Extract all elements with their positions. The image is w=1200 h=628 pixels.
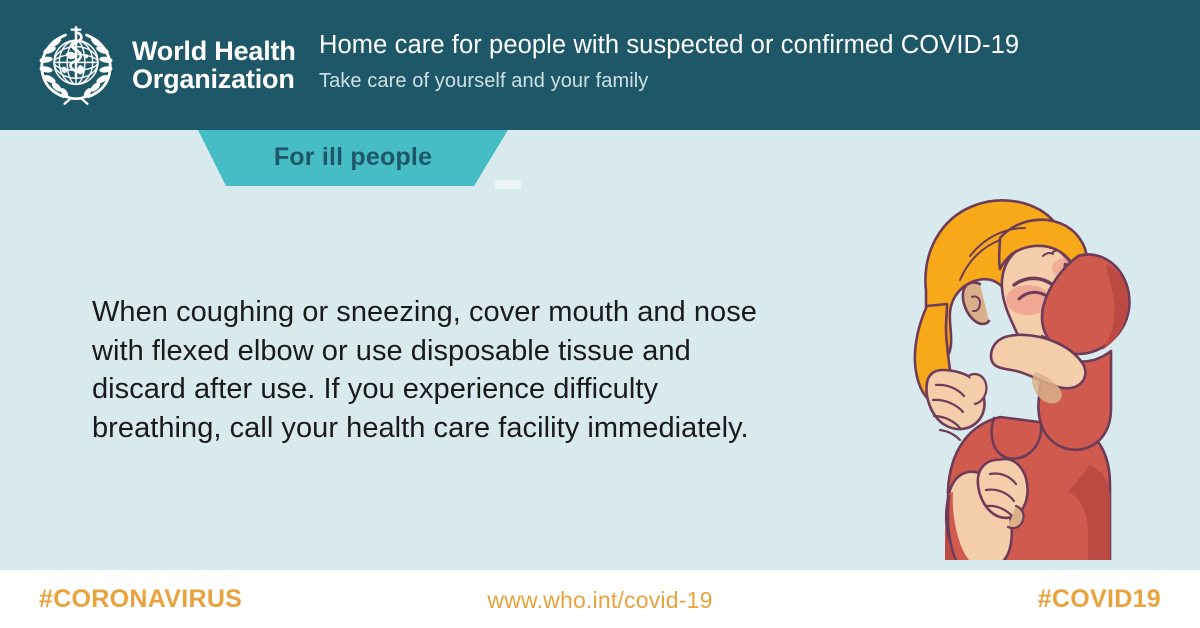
category-tab-label: For ill people	[198, 130, 508, 186]
footer-url[interactable]: www.who.int/covid-19	[0, 587, 1200, 614]
page-title: Home care for people with suspected or c…	[319, 30, 1179, 62]
advice-paragraph: When coughing or sneezing, cover mouth a…	[92, 293, 792, 447]
page-subtitle: Take care of yourself and your family	[319, 68, 1179, 94]
who-covid-infographic: World Health Organization Home care for …	[0, 0, 1200, 628]
header-text-block: Home care for people with suspected or c…	[319, 30, 1179, 94]
woman-coughing-into-elbow-illustration	[820, 160, 1200, 560]
who-wordmark-line2: Organization	[132, 65, 296, 93]
category-tab-banner: For ill people	[198, 130, 508, 186]
who-emblem-icon	[32, 21, 120, 109]
header-bar: World Health Organization Home care for …	[0, 0, 1200, 130]
who-wordmark-line1: World Health	[132, 37, 296, 65]
tab-artifact	[495, 180, 521, 189]
who-logo: World Health Organization	[32, 21, 296, 109]
footer-bar: #CORONAVIRUS www.who.int/covid-19 #COVID…	[0, 570, 1200, 628]
who-wordmark: World Health Organization	[132, 37, 296, 93]
footer-hashtag-covid19: #COVID19	[1038, 585, 1161, 614]
